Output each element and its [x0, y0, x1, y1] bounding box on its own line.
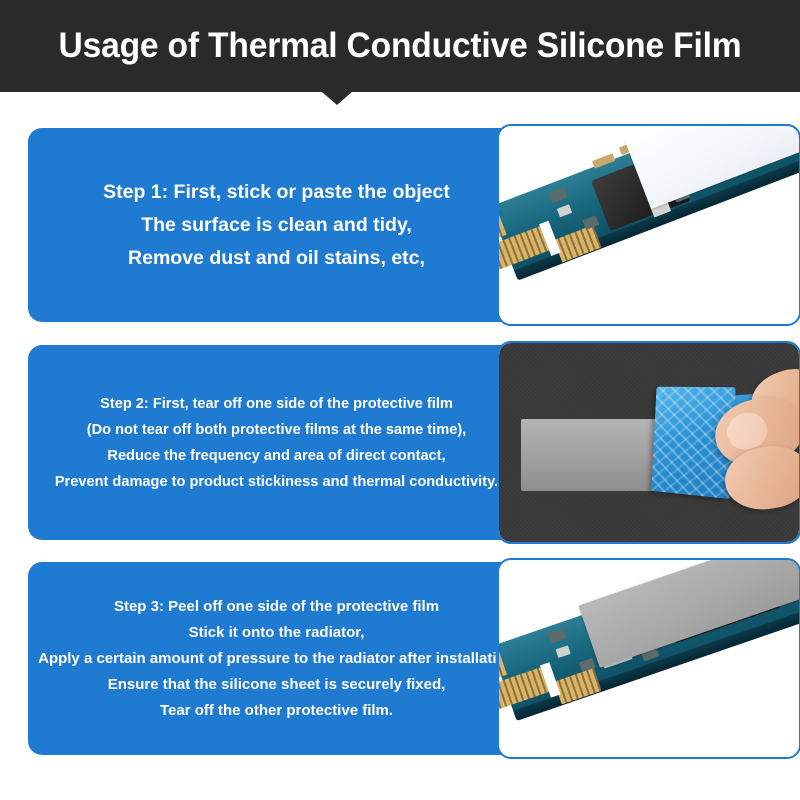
- step-1-line-1: Step 1: First, stick or paste the object: [103, 176, 450, 209]
- m2-ssd-with-grey-silicone-pad-image: [499, 560, 799, 757]
- step-3-line-1: Step 3: Peel off one side of the protect…: [114, 594, 439, 620]
- step-2-line-4: Prevent damage to product stickiness and…: [55, 469, 498, 495]
- step-2-line-1: Step 2: First, tear off one side of the …: [100, 391, 453, 417]
- step-card-1: Step 1: First, stick or paste the object…: [28, 128, 773, 322]
- step-card-3: Step 3: Peel off one side of the protect…: [28, 562, 773, 755]
- step-2-line-2: (Do not tear off both protective films a…: [87, 417, 466, 443]
- header-pointer-triangle-icon: [322, 92, 352, 105]
- step-3-line-4: Ensure that the silicone sheet is secure…: [108, 672, 446, 698]
- step-2-photo-panel: [497, 341, 800, 544]
- step-3-line-2: Stick it onto the radiator,: [189, 620, 365, 646]
- step-3-line-5: Tear off the other protective film.: [160, 698, 393, 724]
- hand-peeling-blue-protective-film-image: [499, 343, 799, 542]
- step-3-line-3: Apply a certain amount of pressure to th…: [38, 646, 515, 672]
- step-3-text-block: Step 3: Peel off one side of the protect…: [28, 562, 525, 755]
- step-1-line-3: Remove dust and oil stains, etc,: [128, 242, 425, 275]
- step-1-text-block: Step 1: First, stick or paste the object…: [28, 128, 525, 322]
- m2-ssd-with-white-film-image: [499, 126, 799, 324]
- step-2-line-3: Reduce the frequency and area of direct …: [107, 443, 445, 469]
- page-title: Usage of Thermal Conductive Silicone Fil…: [16, 0, 784, 92]
- step-1-photo-panel: [497, 124, 800, 326]
- step-card-2: Step 2: First, tear off one side of the …: [28, 345, 773, 540]
- step-1-line-2: The surface is clean and tidy,: [141, 209, 412, 242]
- step-3-photo-panel: [497, 558, 800, 759]
- step-2-text-block: Step 2: First, tear off one side of the …: [28, 345, 525, 540]
